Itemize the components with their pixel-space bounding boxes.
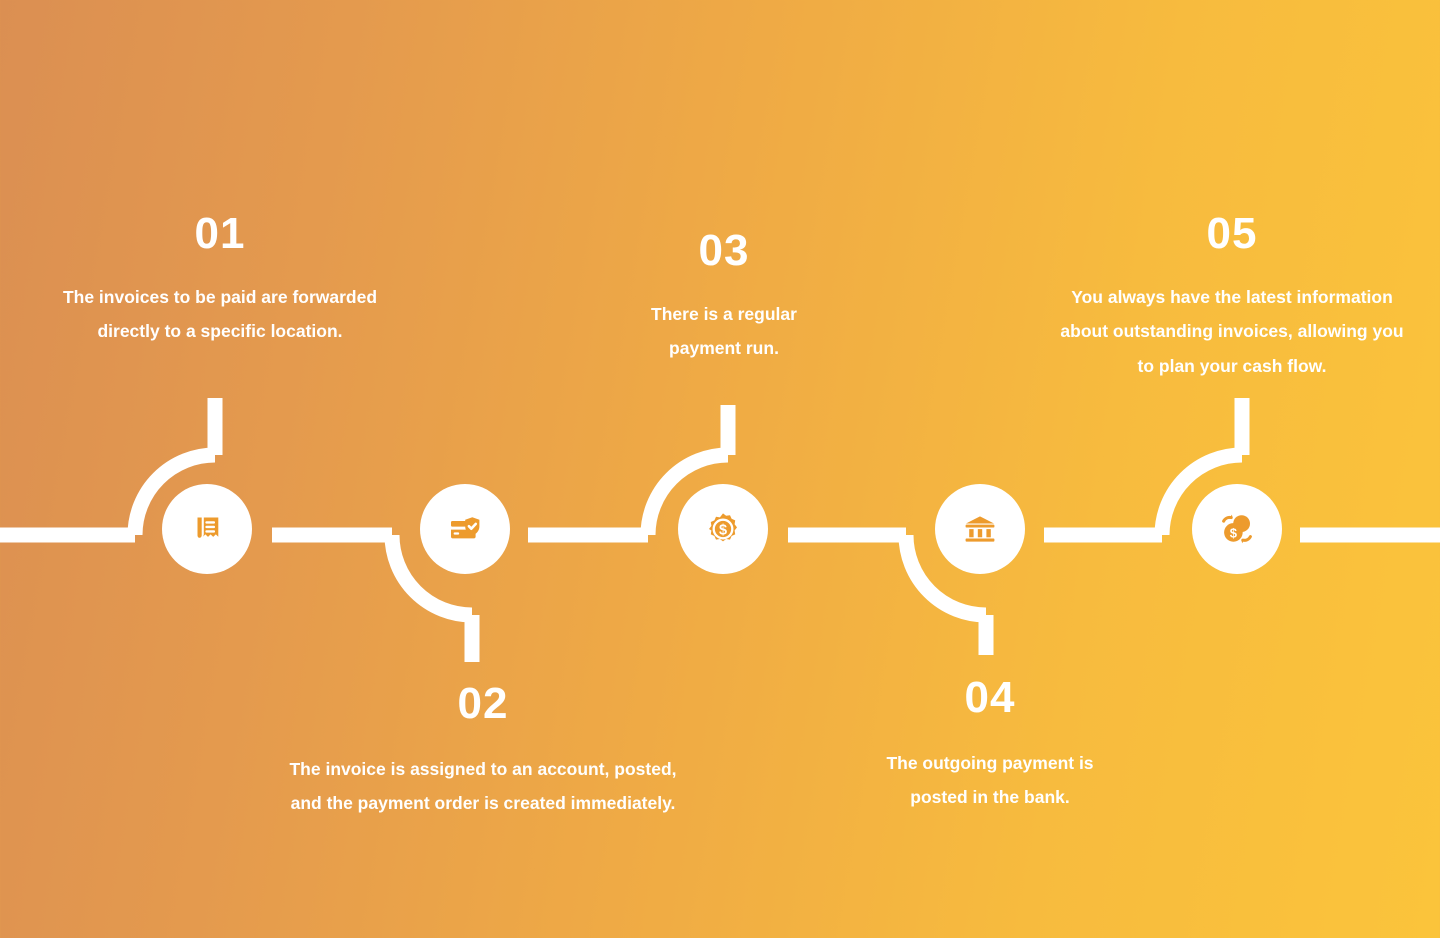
- step-node-04[interactable]: [935, 484, 1025, 574]
- step-description-03: There is a regular payment run.: [604, 297, 844, 366]
- step-description-01: The invoices to be paid are forwarded di…: [20, 280, 420, 349]
- step-number-01: 01: [20, 212, 420, 256]
- svg-text:$: $: [1230, 525, 1238, 540]
- step-description-04: The outgoing payment is posted in the ba…: [860, 746, 1120, 815]
- step-text-01: 01 The invoices to be paid are forwarded…: [20, 212, 420, 349]
- step-text-05: 05 You always have the latest informatio…: [1022, 212, 1440, 383]
- infographic-canvas: $ $: [0, 0, 1440, 938]
- invoice-receipt-icon: [185, 507, 229, 551]
- step-description-02: The invoice is assigned to an account, p…: [243, 752, 723, 821]
- step-number-05: 05: [1022, 212, 1440, 256]
- step-node-01[interactable]: [162, 484, 252, 574]
- step-description-05: You always have the latest information a…: [1022, 280, 1440, 383]
- cash-flow-coins-icon: $: [1214, 506, 1260, 552]
- step-number-02: 02: [243, 682, 723, 726]
- card-shield-check-icon: [443, 507, 487, 551]
- dollar-badge-coin-icon: $: [701, 507, 745, 551]
- bank-building-icon: [958, 507, 1002, 551]
- step-text-04: 04 The outgoing payment is posted in the…: [860, 676, 1120, 815]
- step-text-02: 02 The invoice is assigned to an account…: [243, 682, 723, 821]
- step-number-03: 03: [604, 229, 844, 273]
- step-text-03: 03 There is a regular payment run.: [604, 229, 844, 366]
- svg-text:$: $: [719, 523, 727, 539]
- step-node-02[interactable]: [420, 484, 510, 574]
- step-node-03[interactable]: $: [678, 484, 768, 574]
- step-number-04: 04: [860, 676, 1120, 720]
- step-node-05[interactable]: $: [1192, 484, 1282, 574]
